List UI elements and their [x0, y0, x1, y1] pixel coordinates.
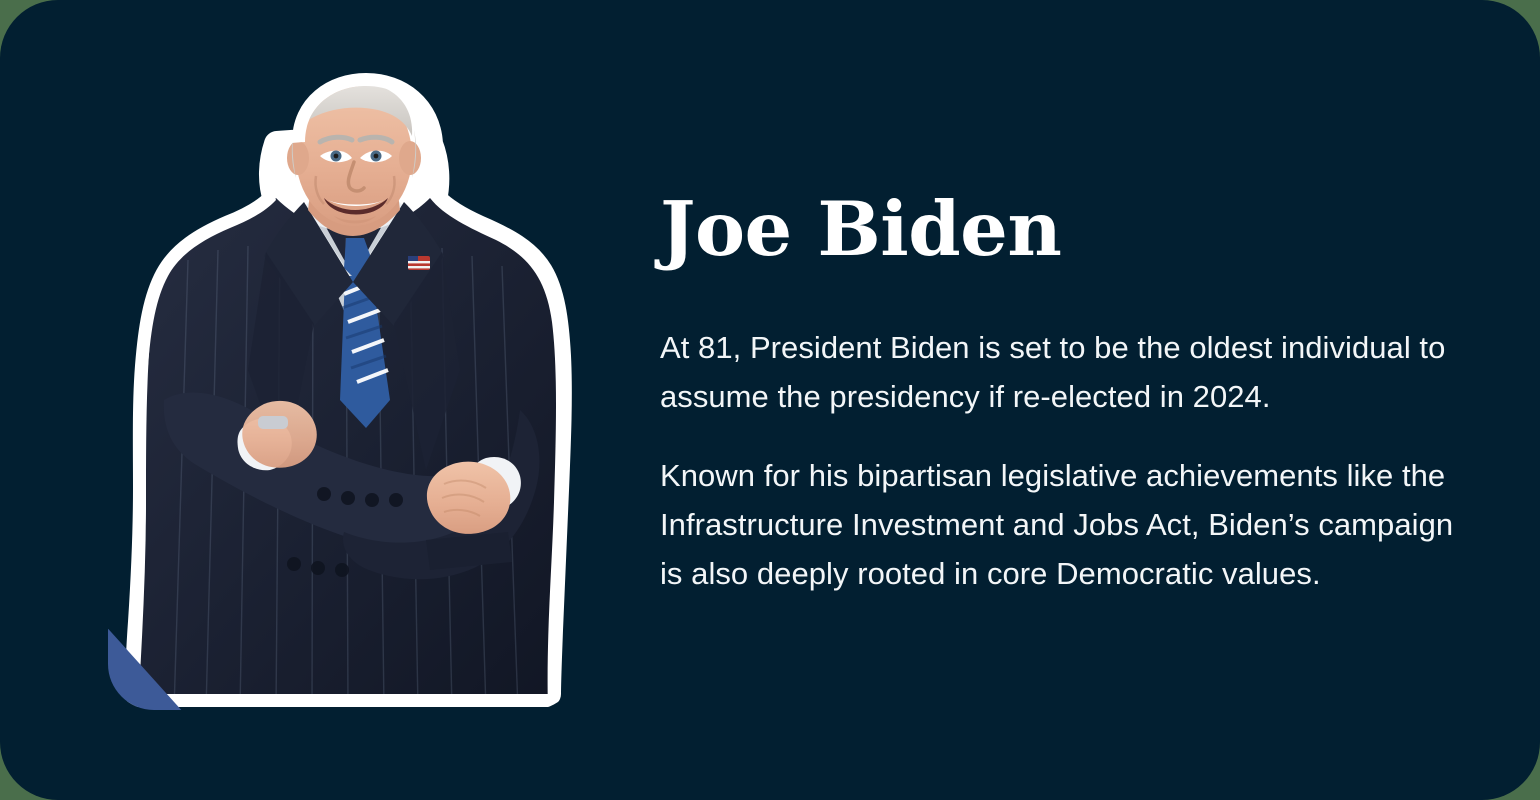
flag-lapel-pin	[408, 256, 430, 270]
portrait-zone: Democrat	[108, 70, 578, 710]
candidate-description: At 81, President Biden is set to be the …	[660, 323, 1470, 598]
portrait-clip: Democrat	[108, 70, 578, 710]
joe-biden-cutout-photo	[108, 70, 578, 710]
description-paragraph-2: Known for his bipartisan legislative ach…	[660, 451, 1470, 598]
description-paragraph-1: At 81, President Biden is set to be the …	[660, 323, 1470, 421]
candidate-profile-card: Democrat Joe Biden At 81, President Bide…	[0, 0, 1540, 800]
candidate-content: Joe Biden At 81, President Biden is set …	[660, 192, 1470, 598]
candidate-name-title: Joe Biden	[660, 192, 1470, 267]
